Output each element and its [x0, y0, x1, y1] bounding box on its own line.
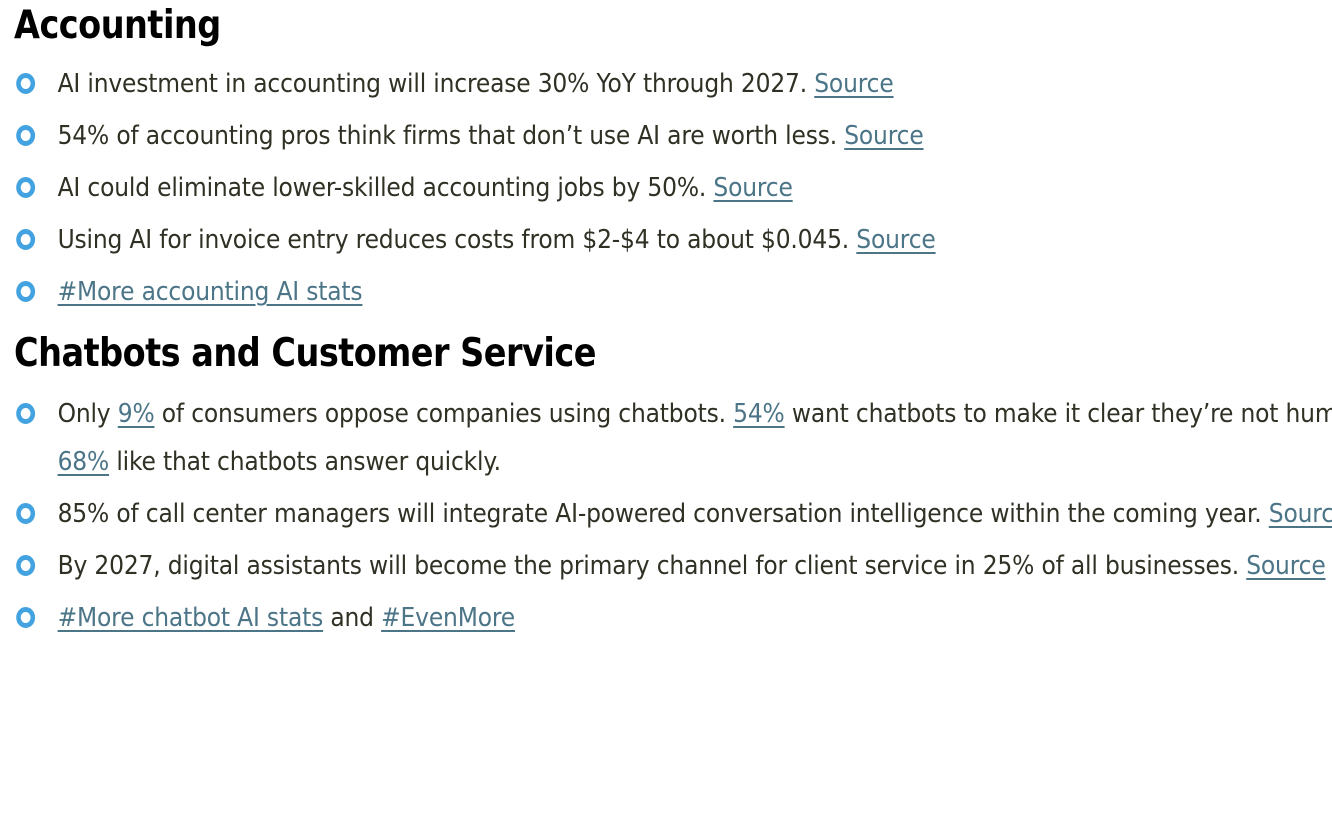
- list-item: #More chatbot AI stats and #EvenMore: [0, 592, 1332, 644]
- list-item: #More accounting AI stats: [0, 266, 1332, 318]
- ring-bullet-icon: [16, 555, 35, 576]
- list-item-text: 54% of accounting pros think firms that …: [58, 121, 924, 151]
- source-link[interactable]: 68%: [58, 447, 109, 477]
- text-run: AI could eliminate lower-skilled account…: [58, 173, 714, 203]
- stat-list-chatbots-and-customer-service: Only 9% of consumers oppose companies us…: [0, 388, 1332, 644]
- text-run: 85% of call center managers will integra…: [58, 499, 1269, 529]
- text-run: Using AI for invoice entry reduces costs…: [58, 225, 857, 255]
- more-stats-link[interactable]: #More chatbot AI stats: [58, 603, 324, 633]
- ring-bullet-icon: [16, 607, 35, 628]
- list-item-text: Using AI for invoice entry reduces costs…: [58, 225, 936, 255]
- list-item: 54% of accounting pros think firms that …: [0, 110, 1332, 162]
- more-stats-link[interactable]: #EvenMore: [381, 603, 515, 633]
- stat-list-accounting: AI investment in accounting will increas…: [0, 58, 1332, 318]
- list-item-text: #More accounting AI stats: [58, 277, 363, 307]
- section-accounting: AccountingAI investment in accounting wi…: [0, 0, 1332, 318]
- section-heading-wrap: Chatbots and Customer Service: [0, 318, 1332, 375]
- list-item-text: AI could eliminate lower-skilled account…: [58, 173, 793, 203]
- section-heading-chatbots-and-customer-service: Chatbots and Customer Service: [14, 334, 1147, 375]
- list-item: By 2027, digital assistants will become …: [0, 540, 1332, 592]
- text-run: like that chatbots answer quickly.: [109, 447, 501, 477]
- ring-bullet-icon: [16, 73, 35, 94]
- list-item-text: #More chatbot AI stats and #EvenMore: [58, 603, 515, 633]
- list-item-text: 85% of call center managers will integra…: [58, 499, 1332, 529]
- ring-bullet-icon: [16, 403, 35, 424]
- text-run: of consumers oppose companies using chat…: [155, 399, 734, 429]
- text-run: 54% of accounting pros think firms that …: [58, 121, 845, 151]
- source-link[interactable]: 54%: [733, 399, 784, 429]
- text-run: By 2027, digital assistants will become …: [58, 551, 1247, 581]
- ring-bullet-icon: [16, 125, 35, 146]
- sections-container: AccountingAI investment in accounting wi…: [0, 0, 1332, 644]
- text-run: Only: [58, 399, 118, 429]
- list-item: 85% of call center managers will integra…: [0, 488, 1332, 540]
- list-item-text: By 2027, digital assistants will become …: [58, 551, 1326, 581]
- text-run: want chatbots to make it clear they’re n…: [785, 399, 1332, 429]
- text-run: and: [323, 603, 381, 633]
- ring-bullet-icon: [16, 229, 35, 250]
- list-item-text: Only 9% of consumers oppose companies us…: [58, 399, 1332, 477]
- section-heading-wrap: Accounting: [0, 0, 1332, 47]
- list-item: Using AI for invoice entry reduces costs…: [0, 214, 1332, 266]
- source-link[interactable]: Source: [1269, 499, 1332, 529]
- list-item-text: AI investment in accounting will increas…: [58, 69, 894, 99]
- section-heading-accounting: Accounting: [14, 6, 1147, 47]
- source-link[interactable]: Source: [844, 121, 923, 151]
- stats-article-page: AccountingAI investment in accounting wi…: [0, 0, 1332, 813]
- list-item: AI could eliminate lower-skilled account…: [0, 162, 1332, 214]
- list-item: Only 9% of consumers oppose companies us…: [0, 388, 1332, 488]
- ring-bullet-icon: [16, 281, 35, 302]
- source-link[interactable]: Source: [814, 69, 893, 99]
- text-run: AI investment in accounting will increas…: [58, 69, 815, 99]
- source-link[interactable]: 9%: [118, 399, 155, 429]
- source-link[interactable]: Source: [856, 225, 935, 255]
- source-link[interactable]: Source: [713, 173, 792, 203]
- ring-bullet-icon: [16, 503, 35, 524]
- more-stats-link[interactable]: #More accounting AI stats: [58, 277, 363, 307]
- source-link[interactable]: Source: [1246, 551, 1325, 581]
- section-chatbots-and-customer-service: Chatbots and Customer ServiceOnly 9% of …: [0, 318, 1332, 644]
- ring-bullet-icon: [16, 177, 35, 198]
- list-item: AI investment in accounting will increas…: [0, 58, 1332, 110]
